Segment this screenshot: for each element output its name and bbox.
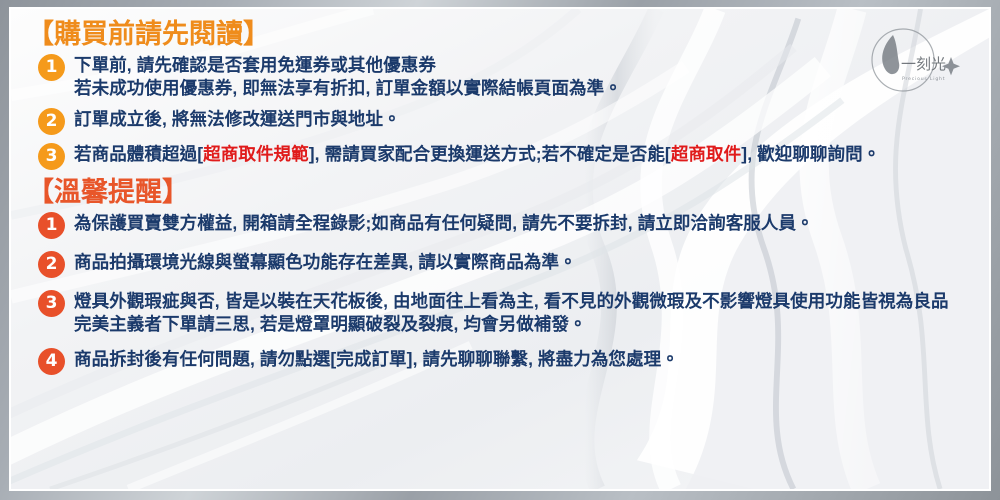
item-text: 訂單成立後, 將無法修改運送門市與地址。 [74,107,401,131]
item-text: 下單前, 請先確認是否套用免運券或其他優惠券 若未成功使用優惠券, 即無法享有折… [74,53,622,100]
item-list-friendly-reminder: 1 為保護買賣雙方權益, 開箱請全程錄影;如商品有任何疑問, 請先不要拆封, 請… [25,211,975,375]
item-number-badge: 3 [38,290,65,317]
brand-logo: 一刻光 Precious Light [839,23,967,97]
text-run: ], 需請買家配合更換運送方式;若不確定是否能[ [309,144,671,164]
item-text-line: 完美主義者下單請三思, 若是燈罩明顯破裂及裂痕, 均會另做補發。 [74,313,949,336]
item-text-line: 下單前, 請先確認是否套用免運券或其他優惠券 [74,54,622,77]
item-text: 燈具外觀瑕疵與否, 皆是以裝在天花板後, 由地面往上看為主, 看不見的外觀微瑕及… [74,289,949,336]
item-text-line: 若商品體積超過[超商取件規範], 需請買家配合更換運送方式;若不確定是否能[超商… [74,143,880,166]
list-item: 3 若商品體積超過[超商取件規範], 需請買家配合更換運送方式;若不確定是否能[… [25,142,975,170]
item-number-badge: 4 [38,348,65,375]
brand-tagline-text: Precious Light [902,76,945,82]
section-before-purchase: 【購買前請先閱讀】 1 下單前, 請先確認是否套用免運券或其他優惠券 若未成功使… [25,19,975,170]
item-text-line: 若未成功使用優惠券, 即無法享有折扣, 訂單金額以實際結帳頁面為準。 [74,77,622,100]
list-item: 4 商品拆封後有任何問題, 請勿點選[完成訂單], 請先聊聊聯繫, 將盡力為您處… [25,347,975,375]
highlight-text: 超商取件 [671,144,741,164]
poster-card: 一刻光 Precious Light 【購買前請先閱讀】 1 下單前, 請先確認… [9,7,991,491]
section-title-before-purchase: 【購買前請先閱讀】 [27,19,975,49]
item-text-line: 燈具外觀瑕疵與否, 皆是以裝在天花板後, 由地面往上看為主, 看不見的外觀微瑕及… [74,290,949,313]
item-number-badge: 1 [38,212,65,239]
item-text: 商品拆封後有任何問題, 請勿點選[完成訂單], 請先聊聊聯繫, 將盡力為您處理。 [74,347,679,371]
item-text: 為保護買賣雙方權益, 開箱請全程錄影;如商品有任何疑問, 請先不要拆封, 請立即… [74,211,814,235]
highlight-text: 超商取件規範 [203,144,309,164]
text-run: ], 歡迎聊聊詢問。 [741,144,880,164]
item-number-badge: 2 [38,251,65,278]
list-item: 3 燈具外觀瑕疵與否, 皆是以裝在天花板後, 由地面往上看為主, 看不見的外觀微… [25,289,975,336]
text-run: 若商品體積超過[ [74,144,203,164]
item-number-badge: 1 [38,54,65,81]
crescent-shape [882,35,899,74]
item-text-line: 商品拆封後有任何問題, 請勿點選[完成訂單], 請先聊聊聯繫, 將盡力為您處理。 [74,348,679,371]
list-item: 2 商品拍攝環境光線與螢幕顯色功能存在差異, 請以實際商品為準。 [25,250,975,278]
item-number-badge: 2 [38,108,65,135]
item-text-line: 訂單成立後, 將無法修改運送門市與地址。 [74,108,401,131]
item-text-line: 商品拍攝環境光線與螢幕顯色功能存在差異, 請以實際商品為準。 [74,251,577,274]
brand-name-text: 一刻光 [901,55,946,73]
item-text: 若商品體積超過[超商取件規範], 需請買家配合更換運送方式;若不確定是否能[超商… [74,142,880,166]
list-item: 2 訂單成立後, 將無法修改運送門市與地址。 [25,107,975,135]
item-list-before-purchase: 1 下單前, 請先確認是否套用免運券或其他優惠券 若未成功使用優惠券, 即無法享… [25,53,975,170]
poster-frame: 一刻光 Precious Light 【購買前請先閱讀】 1 下單前, 請先確認… [0,0,1000,500]
section-title-friendly-reminder: 【溫馨提醒】 [27,177,975,207]
list-item: 1 為保護買賣雙方權益, 開箱請全程錄影;如商品有任何疑問, 請先不要拆封, 請… [25,211,975,239]
item-text: 商品拍攝環境光線與螢幕顯色功能存在差異, 請以實際商品為準。 [74,250,577,274]
section-friendly-reminder: 【溫馨提醒】 1 為保護買賣雙方權益, 開箱請全程錄影;如商品有任何疑問, 請先… [25,177,975,375]
list-item: 1 下單前, 請先確認是否套用免運券或其他優惠券 若未成功使用優惠券, 即無法享… [25,53,975,100]
item-number-badge: 3 [38,143,65,170]
item-text-line: 為保護買賣雙方權益, 開箱請全程錄影;如商品有任何疑問, 請先不要拆封, 請立即… [74,212,814,235]
